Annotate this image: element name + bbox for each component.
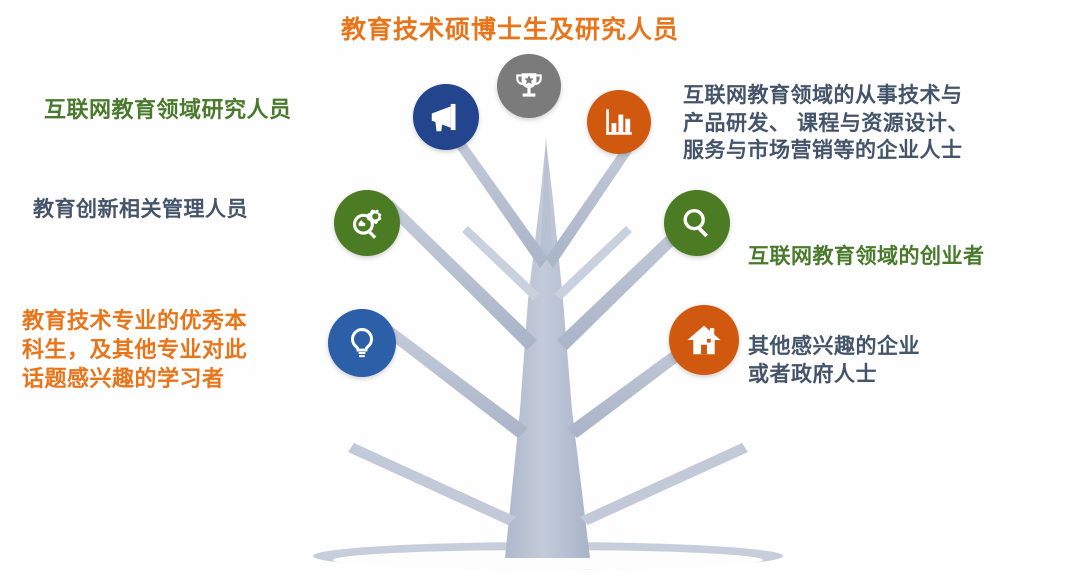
bar-chart-icon [602, 105, 636, 139]
badge-megaphone[interactable] [413, 84, 479, 150]
badge-bar-chart[interactable] [587, 90, 651, 154]
megaphone-icon [427, 98, 465, 136]
search-gear-icon [348, 204, 386, 242]
search-icon [679, 205, 715, 241]
lightbulb-icon [344, 325, 380, 361]
label-enterprise-professionals: 互联网教育领域的从事技术与 产品研发、 课程与资源设计、 服务与市场营销等的企业… [683, 82, 1063, 165]
tree-branch-lower-left [378, 322, 528, 438]
trophy-icon [512, 69, 546, 103]
label-graduate-researchers: 教育技术硕博士生及研究人员 [341, 14, 679, 47]
badge-search-gear[interactable] [334, 190, 400, 256]
label-education-innovation-managers: 教育创新相关管理人员 [33, 196, 248, 224]
tree-twig-right [580, 443, 748, 525]
badge-home[interactable] [669, 305, 739, 375]
label-internet-education-researchers: 互联网教育领域研究人员 [44, 95, 292, 124]
badge-search[interactable] [664, 190, 730, 256]
badge-trophy[interactable] [497, 54, 561, 118]
badge-lightbulb[interactable] [328, 309, 396, 377]
diagram-canvas: 教育技术硕博士生及研究人员 互联网教育领域研究人员 教育创新相关管理人员 教育技… [0, 0, 1080, 586]
home-icon [685, 321, 723, 359]
label-undergraduate-learners: 教育技术专业的优秀本 科生，及其他专业对此 话题感兴趣的学习者 [22, 306, 322, 393]
label-other-interested-parties: 其他感兴趣的企业 或者政府人士 [748, 333, 1028, 388]
label-entrepreneurs: 互联网教育领域的创业者 [748, 243, 985, 271]
tree-twig-left [348, 443, 516, 525]
